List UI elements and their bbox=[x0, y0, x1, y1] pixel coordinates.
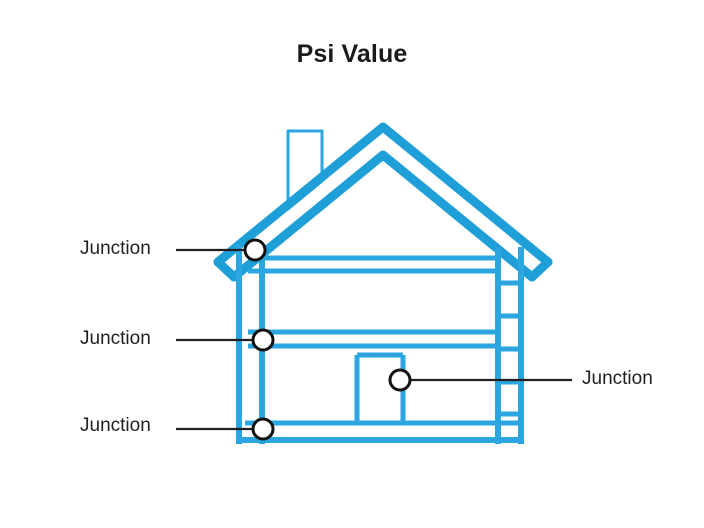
upper-ceiling-floor bbox=[248, 258, 500, 271]
diagram-canvas: Psi Value bbox=[0, 0, 704, 528]
junction-marker-middle bbox=[253, 330, 273, 350]
right-cavity-wall bbox=[498, 250, 521, 441]
junction-marker-top bbox=[245, 240, 265, 260]
junction-label-middle: Junction bbox=[80, 329, 151, 348]
junction-marker-right bbox=[390, 370, 410, 390]
junction-marker-bottom bbox=[253, 419, 273, 439]
ground-floor-slab bbox=[239, 423, 524, 440]
junction-label-bottom: Junction bbox=[80, 416, 151, 435]
middle-floor bbox=[248, 332, 500, 346]
junction-label-right: Junction bbox=[582, 369, 653, 388]
house-diagram-svg bbox=[0, 0, 704, 528]
junction-label-top: Junction bbox=[80, 239, 151, 258]
